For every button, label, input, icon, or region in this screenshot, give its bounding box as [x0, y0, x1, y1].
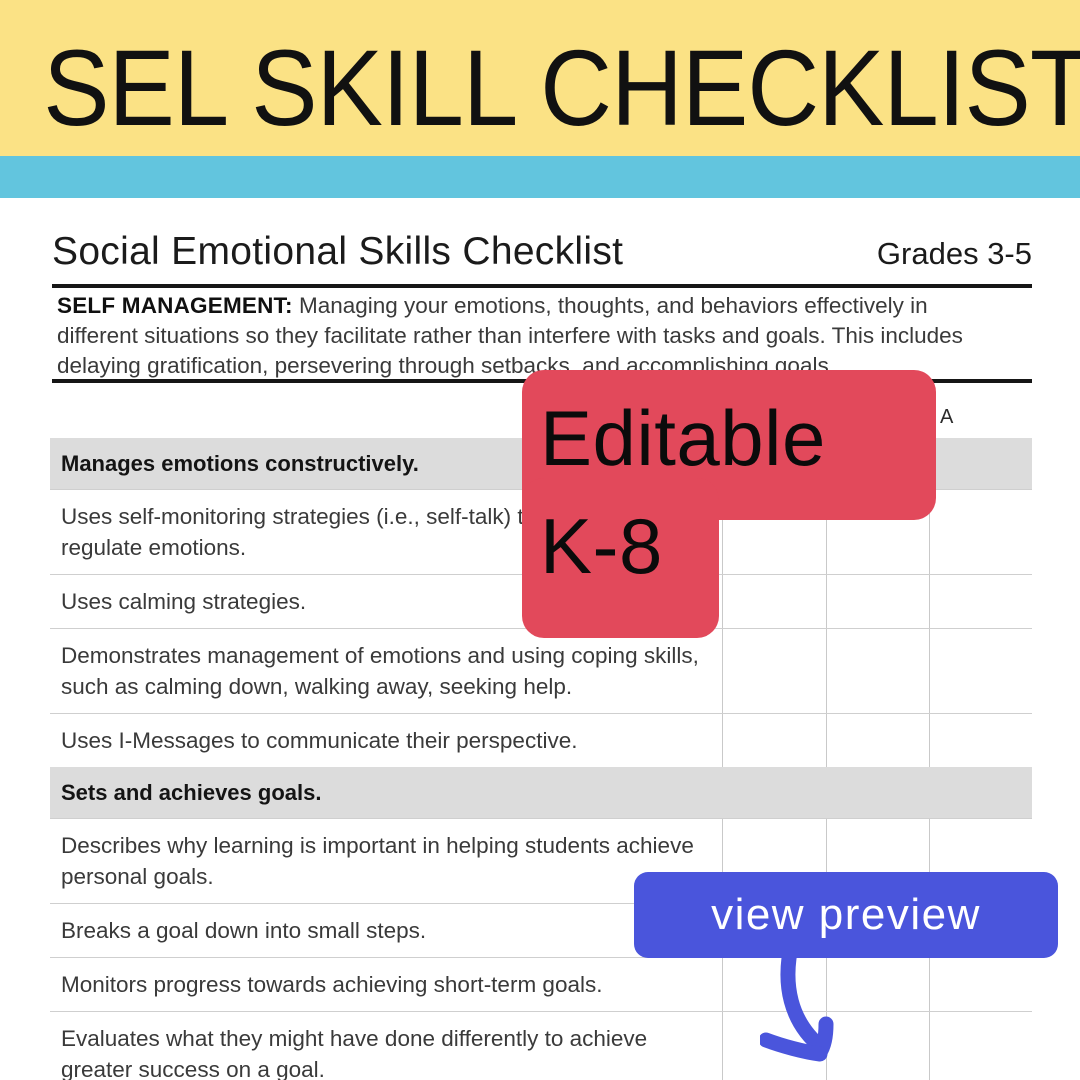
- skill-label: Uses I-Messages to communicate their per…: [50, 714, 722, 767]
- view-preview-button[interactable]: view preview: [634, 872, 1058, 958]
- checkbox-cell-c[interactable]: [929, 958, 1032, 1011]
- badge-line-grade-range: K-8: [540, 492, 936, 600]
- skill-label: Breaks a goal down into small steps.: [50, 904, 722, 957]
- checkbox-cell-c[interactable]: [929, 575, 1032, 628]
- checkbox-cell-a[interactable]: [722, 714, 826, 767]
- checkbox-cell-c[interactable]: [929, 714, 1032, 767]
- checkbox-cell-c[interactable]: [929, 629, 1032, 713]
- curved-arrow-icon: [760, 938, 910, 1080]
- table-row[interactable]: Demonstrates management of emotions and …: [50, 628, 1032, 713]
- skill-label: Describes why learning is important in h…: [50, 819, 722, 903]
- document-header: Social Emotional Skills Checklist Grades…: [52, 230, 1032, 274]
- checkbox-cell-a[interactable]: [722, 629, 826, 713]
- view-preview-label: view preview: [711, 893, 981, 937]
- checkbox-cell-c[interactable]: [929, 490, 1032, 574]
- skill-label: Evaluates what they might have done diff…: [50, 1012, 722, 1080]
- badge-text-wrap: Editable K-8: [522, 370, 936, 638]
- badge-line-editable: Editable: [540, 384, 936, 492]
- banner-title: SEL SKILL CHECKLISTS: [43, 34, 1037, 142]
- skill-label: Demonstrates management of emotions and …: [50, 629, 722, 713]
- document-grade-range: Grades 3-5: [877, 236, 1032, 272]
- document-title: Social Emotional Skills Checklist: [52, 230, 623, 274]
- column-header-a: A: [940, 406, 953, 429]
- checkbox-cell-b[interactable]: [826, 629, 929, 713]
- banner-blue-band: [0, 156, 1080, 198]
- editable-k8-badge: Editable K-8: [522, 370, 936, 638]
- header-divider-top: [52, 284, 1032, 288]
- table-row[interactable]: Uses I-Messages to communicate their per…: [50, 713, 1032, 767]
- table-section-row: Sets and achieves goals.: [50, 767, 1032, 818]
- skill-label: Monitors progress towards achieving shor…: [50, 958, 722, 1011]
- checkbox-cell-c[interactable]: [929, 1012, 1032, 1080]
- checkbox-cell-b[interactable]: [826, 714, 929, 767]
- self-management-description: SELF MANAGEMENT: Managing your emotions,…: [57, 291, 987, 381]
- section-row-label: Sets and achieves goals.: [50, 767, 722, 818]
- description-lead-label: SELF MANAGEMENT:: [57, 293, 293, 318]
